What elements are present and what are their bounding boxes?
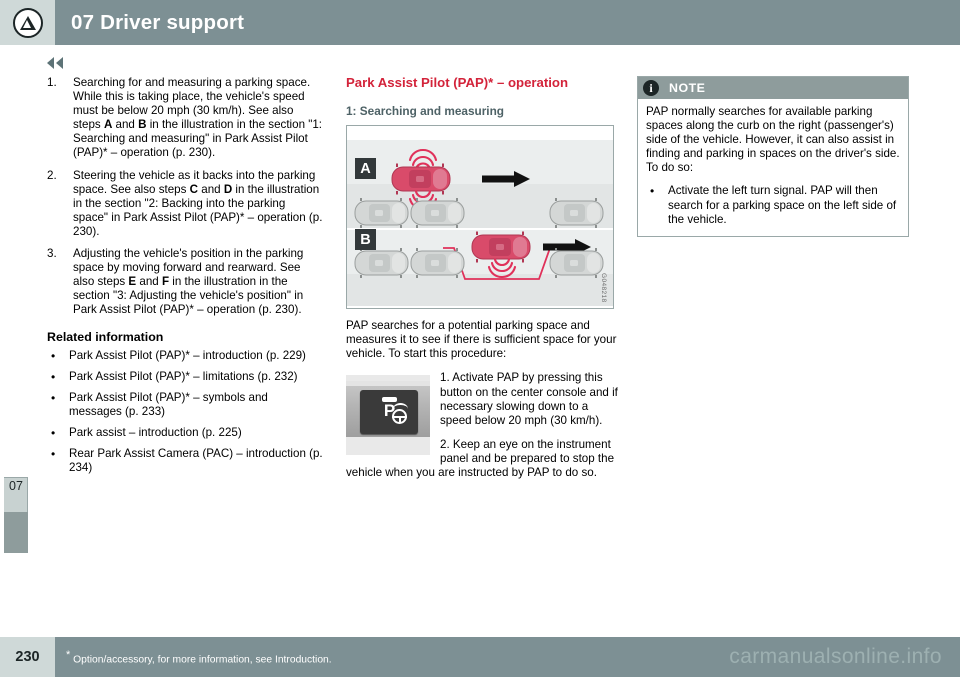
site-watermark: carmanualsonline.info — [729, 645, 942, 669]
note-box: i NOTE PAP normally searches for availab… — [637, 76, 909, 237]
warning-triangle-icon — [0, 0, 55, 45]
bullet-dot-icon: • — [47, 370, 69, 384]
related-list-item-label: Park Assist Pilot (PAP)* – symbols and m… — [69, 391, 323, 419]
page-number-box: 230 — [0, 637, 55, 677]
note-bullet-text: Activate the left turn signal. PAP will … — [668, 184, 900, 226]
step-text: Steering the vehicle as it backs into th… — [73, 169, 323, 239]
manual-page: 07 Driver support 07 1.Searching for and… — [0, 0, 960, 677]
middle-column: Park Assist Pilot (PAP)* – operation 1: … — [346, 76, 618, 480]
related-list-item[interactable]: •Rear Park Assist Camera (PAC) – introdu… — [47, 447, 323, 475]
chapter-tab-number: 07 — [4, 479, 28, 493]
figure-image-code: G048218 — [596, 273, 610, 303]
bullet-dot-icon: • — [47, 447, 69, 475]
bullet-dot-icon: • — [47, 349, 69, 363]
section-subtitle: 1: Searching and measuring — [346, 104, 618, 118]
note-body: PAP normally searches for available park… — [638, 99, 908, 236]
note-title: NOTE — [669, 81, 705, 95]
panel-label-b: B — [355, 229, 376, 250]
numbered-steps-list: 1.Searching for and measuring a parking … — [47, 76, 323, 318]
numbered-step-item: 2.Steering the vehicle as it backs into … — [47, 169, 323, 239]
bullet-dot-icon: • — [47, 426, 69, 440]
steering-wheel-icon — [392, 409, 407, 424]
related-list-item[interactable]: •Park Assist Pilot (PAP)* – introduction… — [47, 349, 323, 363]
paragraph-pap-search: PAP searches for a potential parking spa… — [346, 319, 618, 361]
related-list-item-label: Park assist – introduction (p. 225) — [69, 426, 323, 440]
info-icon: i — [643, 80, 659, 96]
numbered-step-item: 3.Adjusting the vehicle's position in th… — [47, 247, 323, 317]
footer-bar: * Option/accessory, for more information… — [55, 637, 960, 677]
related-list-item[interactable]: •Park Assist Pilot (PAP)* – limitations … — [47, 370, 323, 384]
related-list-item-label: Park Assist Pilot (PAP)* – introduction … — [69, 349, 323, 363]
pap-button-photo: P — [346, 375, 430, 455]
step-text: Adjusting the vehicle's position in the … — [73, 247, 323, 317]
footnote-text: Option/accessory, for more information, … — [70, 654, 331, 665]
panel-label-a: A — [355, 158, 376, 179]
numbered-step-item: 1.Searching for and measuring a parking … — [47, 76, 323, 161]
related-information-list: •Park Assist Pilot (PAP)* – introduction… — [47, 349, 323, 476]
related-list-item-label: Park Assist Pilot (PAP)* – limitations (… — [69, 370, 323, 384]
note-bullet-item: • Activate the left turn signal. PAP wil… — [646, 184, 900, 226]
step-marker: 2. — [47, 169, 73, 239]
related-list-item[interactable]: •Park assist – introduction (p. 225) — [47, 426, 323, 440]
page-header: 07 Driver support — [0, 0, 960, 45]
footnote: * Option/accessory, for more information… — [66, 649, 332, 665]
step-marker: 3. — [47, 247, 73, 317]
right-column: i NOTE PAP normally searches for availab… — [637, 76, 911, 237]
related-list-item-label: Rear Park Assist Camera (PAC) – introduc… — [69, 447, 323, 475]
note-header: i NOTE — [638, 77, 908, 99]
left-column: 1.Searching for and measuring a parking … — [47, 76, 323, 482]
rewind-arrows-icon — [47, 57, 63, 69]
page-title: 07 Driver support — [71, 11, 244, 35]
pap-button-glyph: P — [360, 404, 418, 418]
note-paragraph: PAP normally searches for available park… — [646, 105, 900, 175]
bullet-dot-icon: • — [646, 184, 668, 226]
chapter-tab-extension — [4, 512, 28, 553]
step-marker: 1. — [47, 76, 73, 161]
related-list-item[interactable]: •Park Assist Pilot (PAP)* – symbols and … — [47, 391, 323, 419]
page-footer: 230 * Option/accessory, for more informa… — [0, 637, 960, 677]
step-text: Searching for and measuring a parking sp… — [73, 76, 323, 161]
page-number: 230 — [15, 649, 39, 665]
related-information-heading: Related information — [47, 330, 323, 344]
parking-search-illustration: A B G048218 — [346, 125, 614, 309]
bullet-dot-icon: • — [47, 391, 69, 419]
section-title: Park Assist Pilot (PAP)* – operation — [346, 76, 618, 90]
